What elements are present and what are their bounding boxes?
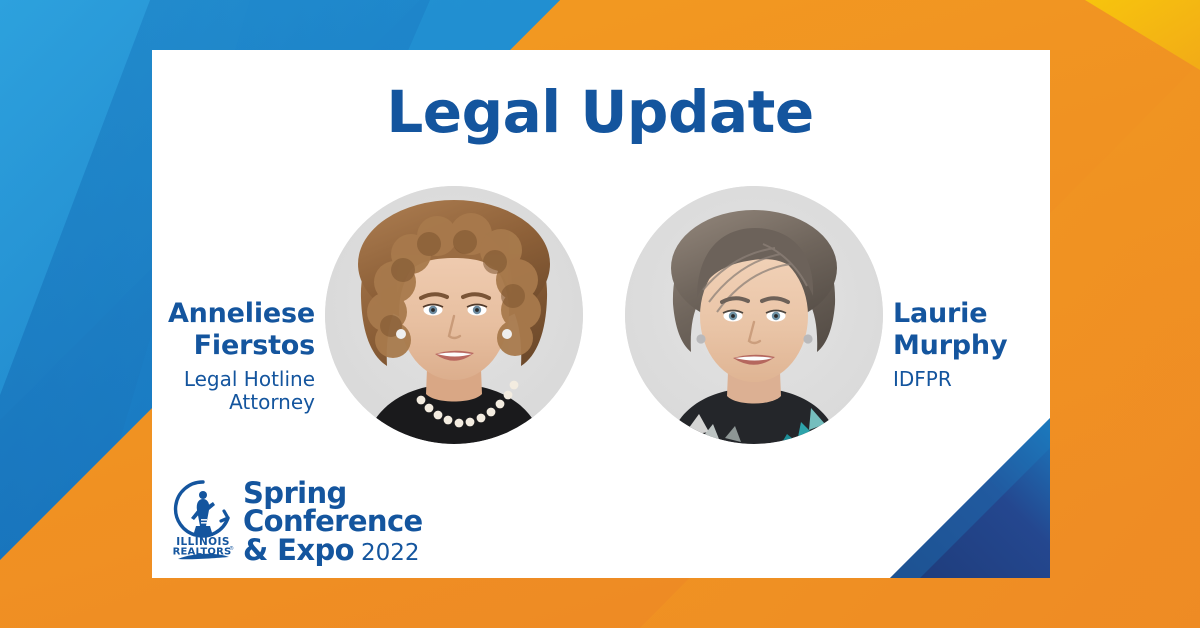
event-name: Spring Conference & Expo2022 xyxy=(243,478,423,564)
event-logo-lockup: ILLINOIS REALTORS ® Spring Conference & … xyxy=(172,478,423,564)
speaker-name-right-line1: Laurie xyxy=(893,298,1093,330)
event-year: 2022 xyxy=(361,540,420,566)
portrait-laurie-murphy xyxy=(625,186,883,444)
portrait-anneliese-fierstos xyxy=(325,186,583,444)
event-name-line3: & Expo2022 xyxy=(243,536,423,565)
illinois-realtors-logo-icon: ILLINOIS REALTORS ® xyxy=(172,478,234,560)
speaker-info-right: Laurie Murphy IDFPR xyxy=(893,298,1093,391)
speaker-role-left-line1: Legal Hotline xyxy=(150,368,315,392)
speaker-role-left-line2: Attorney xyxy=(150,391,315,415)
event-name-line2: Conference xyxy=(243,507,423,535)
page-title: Legal Update xyxy=(0,78,1200,146)
svg-text:®: ® xyxy=(229,545,234,552)
speaker-name-right-line2: Murphy xyxy=(893,330,1093,362)
card-corner-accent xyxy=(880,418,1050,578)
speaker-name-left-line1: Anneliese xyxy=(150,298,315,330)
event-name-line1: Spring xyxy=(243,479,423,507)
speaker-role-right-line1: IDFPR xyxy=(893,368,1093,392)
speaker-info-left: Anneliese Fierstos Legal Hotline Attorne… xyxy=(150,298,315,415)
speaker-name-left-line2: Fierstos xyxy=(150,330,315,362)
event-name-line3-text: & Expo xyxy=(243,533,354,567)
